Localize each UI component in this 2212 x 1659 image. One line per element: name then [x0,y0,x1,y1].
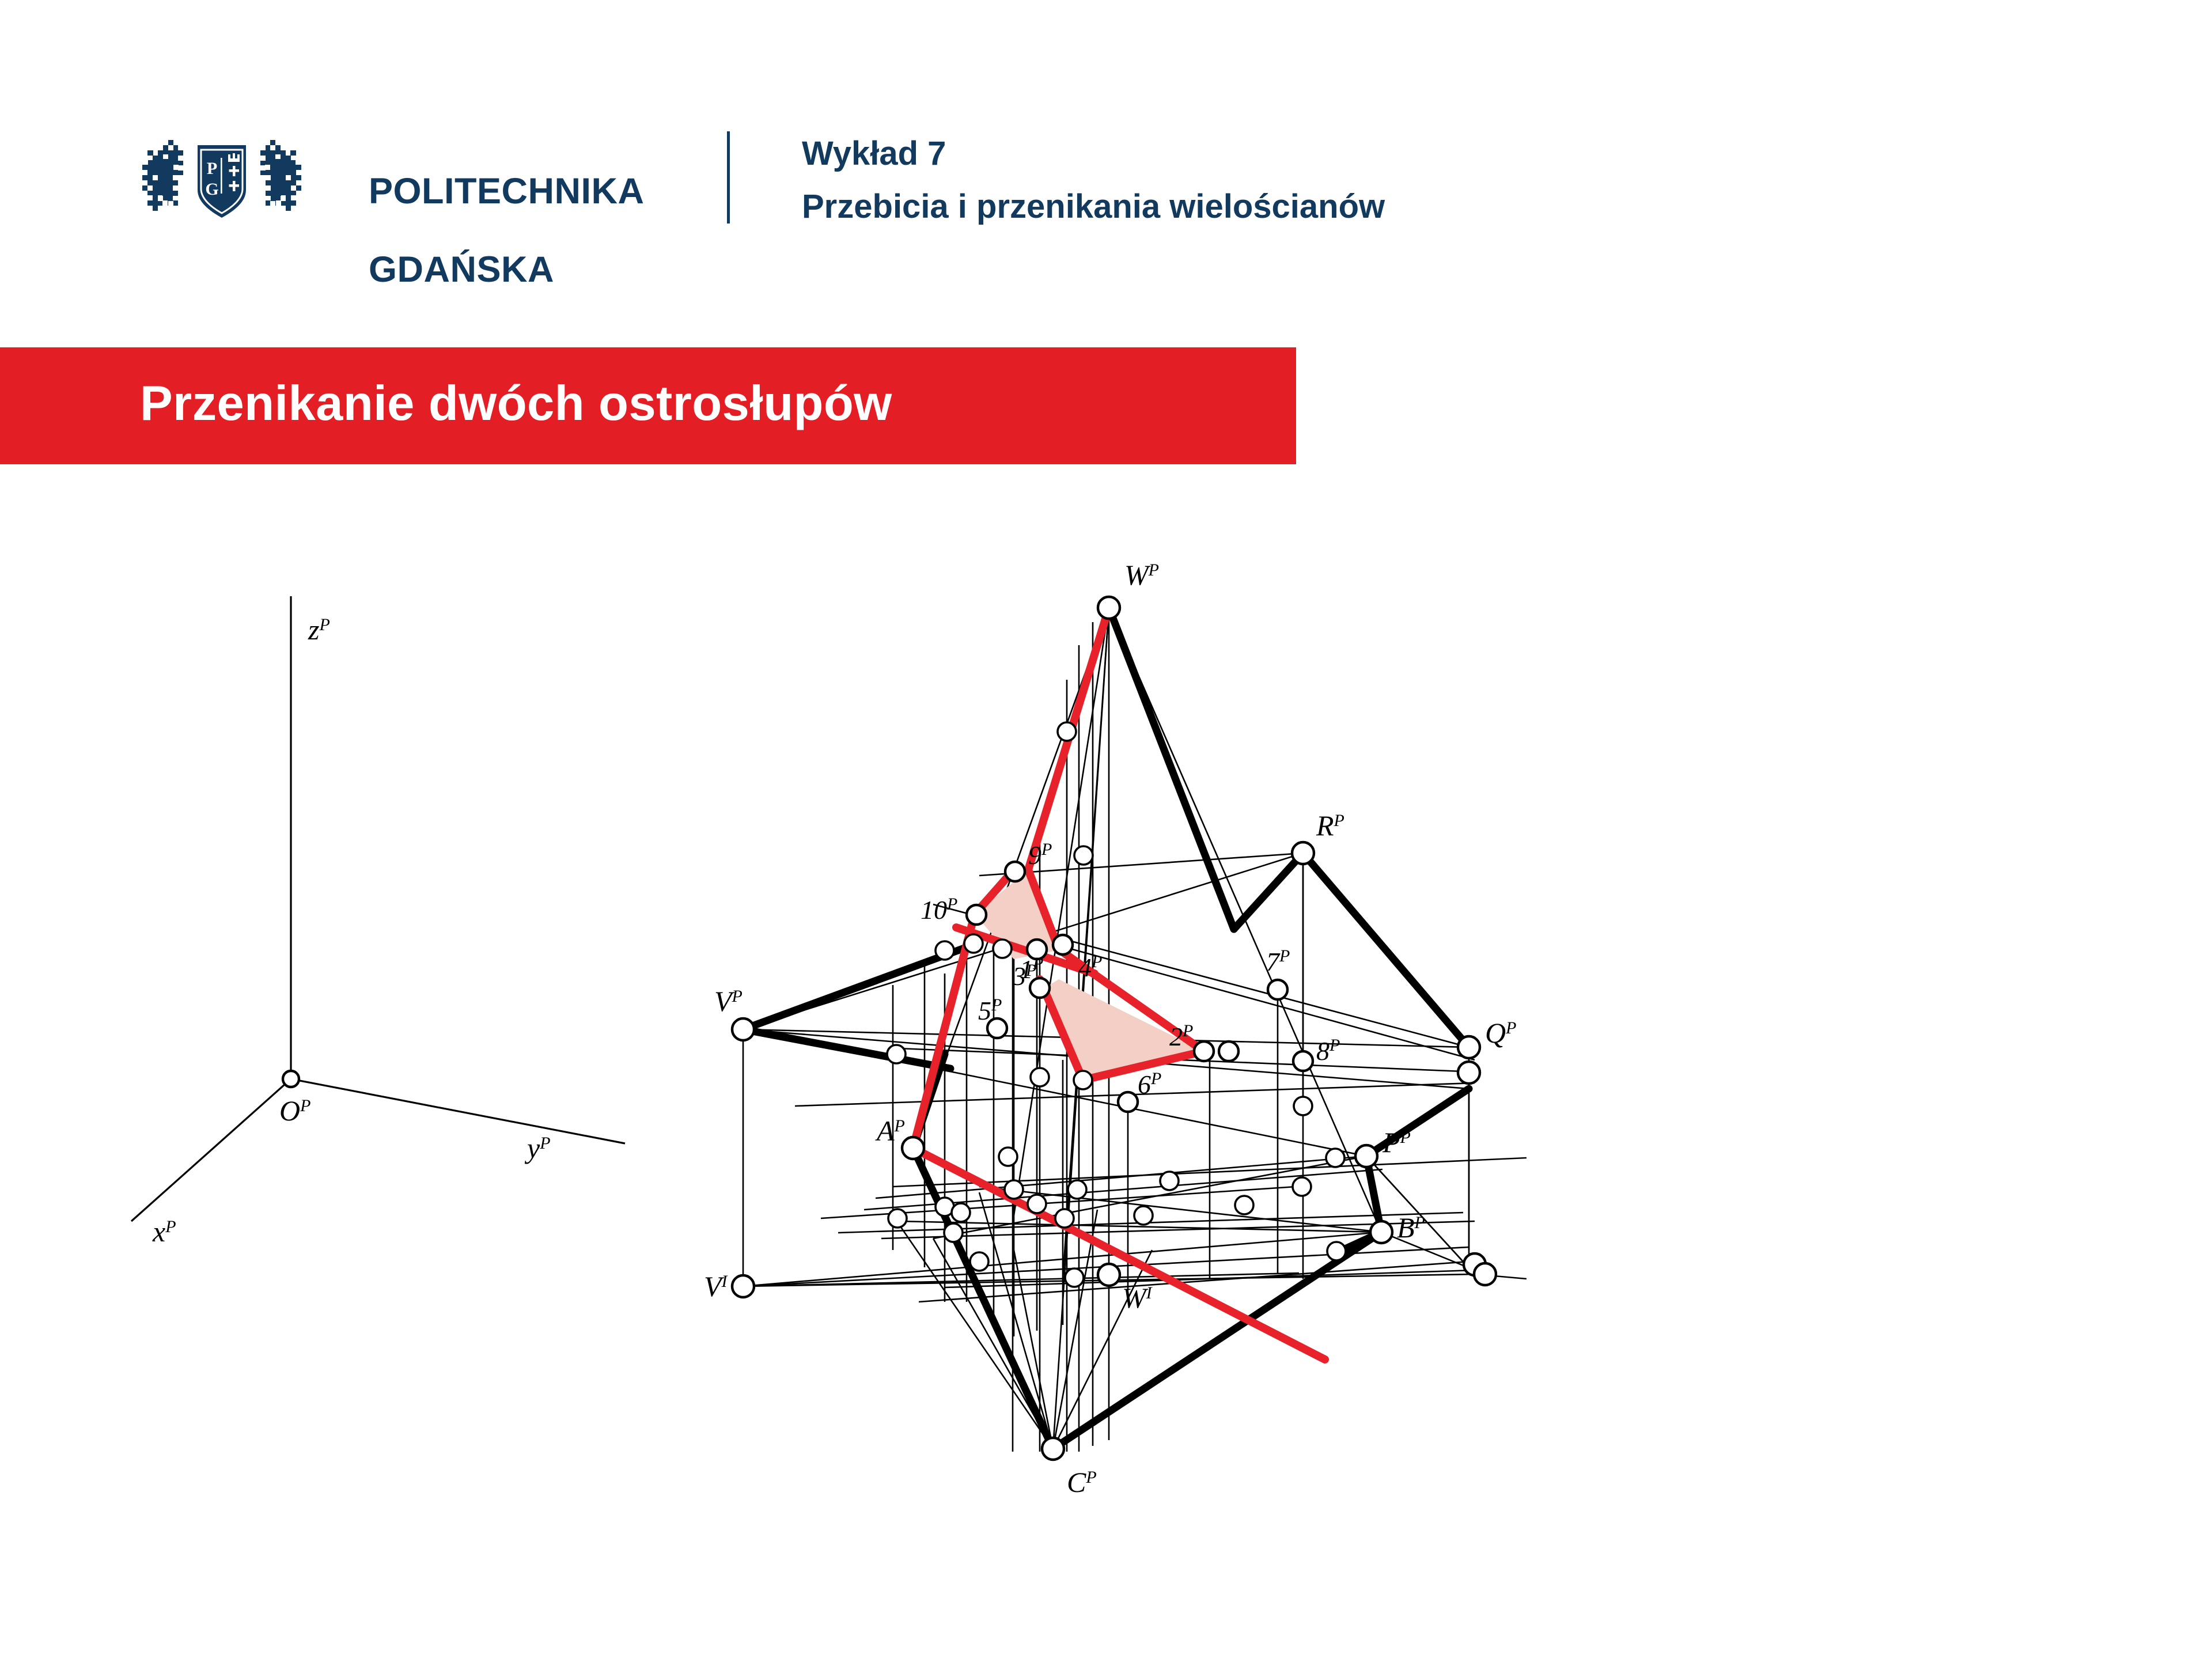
node-A [902,1137,924,1159]
node-aux-2 [1074,846,1093,865]
lecture-title: Przebicia i przenikania wielościanów [802,187,1385,227]
edge-R-Q [1303,853,1469,1047]
node-Vi [732,1275,754,1297]
node-aux-7 [1294,1097,1312,1115]
node-Q2 [1458,1062,1480,1084]
shield-icon: P G [198,145,246,218]
edge-Q-P [1366,1089,1469,1156]
node-aux-10 [1028,1195,1046,1213]
slide-title: Przenikanie dwóch ostrosłupów [140,376,892,432]
axis-label-z: zP [308,613,330,646]
label-V: VP [714,985,743,1017]
drawing-labels: zP yP xP OP WP VP VI AP BP CP RP QP PP W… [152,559,1516,1498]
university-name-line1: POLITECHNIKA [369,172,645,211]
node-aux-20 [887,1045,906,1063]
node-aux-23 [999,1147,1017,1166]
node-aux-24 [1160,1172,1179,1190]
label-7: 7P [1266,946,1290,977]
node-aux-4 [935,941,954,960]
lecture-number: Wykład 7 [802,134,1385,174]
slide-header: P G [0,0,2212,323]
node-R [1292,842,1314,864]
university-name-line2: GDAŃSKA [369,250,645,289]
label-R: RP [1316,809,1344,842]
lion-left-icon [142,140,183,211]
axis-y [291,1079,625,1143]
node-10 [967,905,986,925]
label-9: 9P [1028,840,1052,870]
coordinate-axes [131,596,625,1221]
node-aux-18 [1327,1242,1346,1260]
node-aux-22 [1293,1177,1311,1196]
university-name: POLITECHNIKA GDAŃSKA [369,132,645,328]
header-divider [727,131,730,224]
label-Wi: WI [1122,1282,1153,1314]
node-Q1 [1458,1036,1480,1058]
node-aux-12 [952,1203,970,1222]
node-6 [1118,1092,1138,1112]
node-2a [1194,1041,1214,1061]
label-10: 10P [921,895,957,925]
node-P [1355,1145,1377,1167]
axis-label-origin: OP [279,1094,310,1127]
node-aux-8 [1326,1149,1344,1167]
politechnika-gdanska-logo: P G [135,128,308,229]
label-Q: QP [1485,1017,1516,1049]
technical-drawing: zP yP xP OP WP VP VI AP BP CP RP QP PP W… [0,472,2212,1659]
node-aux-15 [1055,1209,1074,1228]
node-aux-1 [1058,722,1076,741]
node-aux-6 [1074,1071,1092,1089]
node-C [1042,1438,1064,1460]
node-aux-14 [970,1252,988,1271]
svg-text:G: G [205,180,218,199]
node-4 [1053,935,1073,955]
label-8: 8P [1316,1036,1340,1066]
node-V [732,1018,754,1040]
edge-W-R [1109,608,1234,929]
axis-label-y: yP [524,1132,551,1164]
node-aux-5 [1031,1068,1049,1086]
node-aux-17 [1235,1196,1253,1214]
node-aux-16 [1134,1206,1153,1225]
node-aux-13 [944,1224,963,1242]
axis-label-x: xP [152,1215,176,1248]
axis-x [131,1079,291,1221]
label-P: PP [1382,1126,1411,1158]
svg-text:P: P [207,159,217,178]
node-aux-25 [1068,1180,1086,1199]
origin-node [283,1071,299,1087]
node-W [1098,597,1120,619]
lecture-info: Wykład 7 Przebicia i przenikania wielośc… [802,134,1385,226]
node-aux-3 [993,940,1012,958]
node-aux-19 [1065,1268,1084,1287]
node-8 [1293,1051,1313,1071]
label-B: BP [1397,1211,1425,1244]
node-Qi2 [1474,1263,1496,1285]
lion-right-icon [260,140,301,211]
node-B [1370,1221,1392,1243]
intersection-polyline-red [913,608,1325,1359]
label-C: CP [1067,1466,1097,1498]
node-aux-21 [964,934,983,953]
node-1 [1030,978,1050,998]
node-7 [1268,980,1287,999]
label-Vi: VI [704,1270,729,1302]
label-6: 6P [1138,1069,1161,1100]
node-Wi [1098,1264,1120,1286]
node-aux-26 [888,1209,907,1228]
label-A: AP [875,1115,905,1147]
label-W: WP [1124,559,1159,591]
node-9 [1005,862,1025,881]
node-2b [1219,1041,1238,1061]
node-aux-9 [1005,1180,1023,1199]
